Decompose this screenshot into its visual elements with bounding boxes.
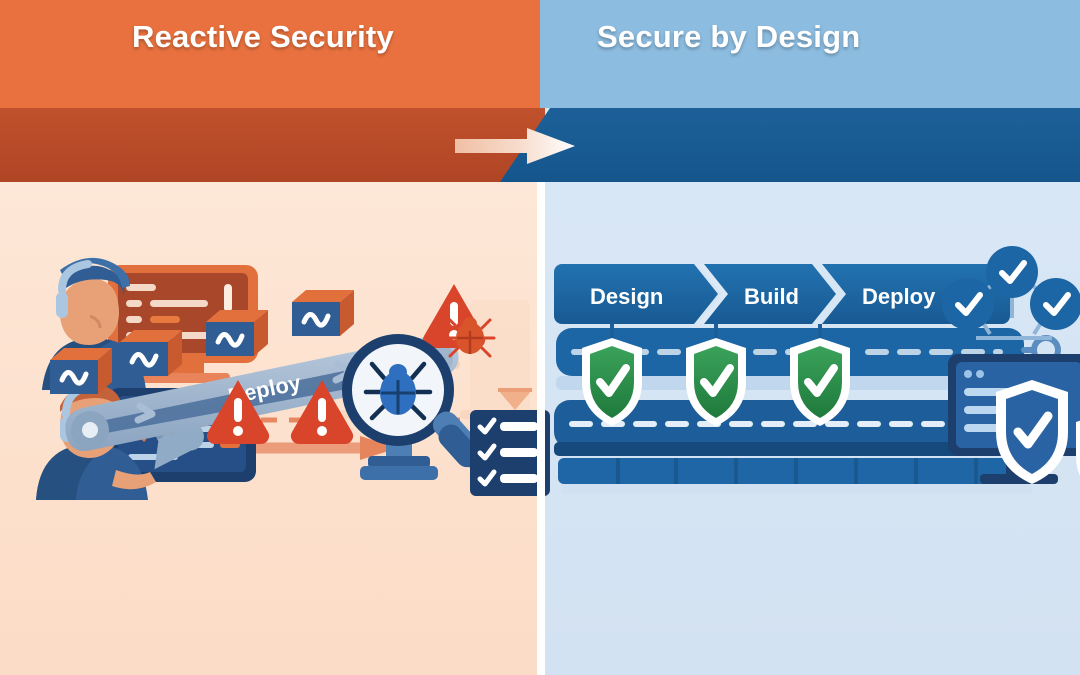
stage-label-deploy: Deploy xyxy=(862,284,936,309)
reactive-security-scene: Deploy xyxy=(30,240,540,500)
package-box xyxy=(206,310,268,356)
network-check-nodes-icon xyxy=(942,246,1080,338)
secure-by-design-scene: Design Build Deploy xyxy=(548,250,1080,510)
center-divider xyxy=(537,182,545,675)
package-box xyxy=(292,290,354,336)
green-shield-check-icon xyxy=(1076,412,1080,500)
banner-title-reactive: Reactive Security xyxy=(132,0,394,74)
stage-label-build: Build xyxy=(744,284,799,309)
stage-label-design: Design xyxy=(590,284,663,309)
banner-right-half xyxy=(490,108,1080,182)
package-box xyxy=(120,330,182,376)
banner-title-secure: Secure by Design xyxy=(597,0,860,74)
transition-arrow xyxy=(455,128,575,164)
illustration-canvas: Deploy xyxy=(0,0,1080,675)
package-box xyxy=(50,348,112,394)
